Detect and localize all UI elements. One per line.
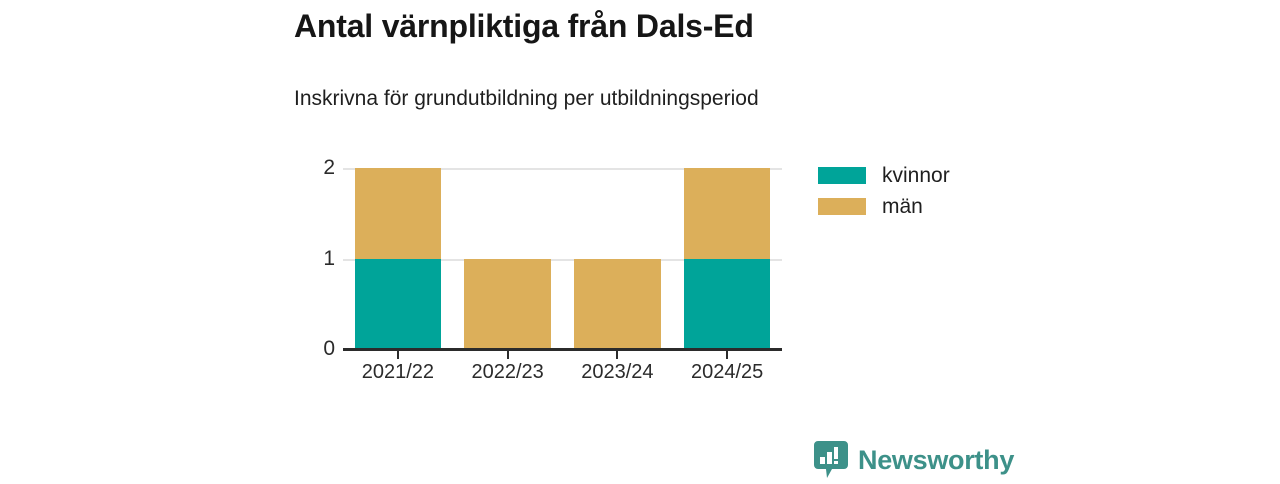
newsworthy-logo[interactable]: Newsworthy	[814, 441, 1014, 479]
legend-item-man[interactable]: män	[818, 191, 950, 222]
y-tick-label-1: 1	[303, 248, 335, 269]
x-axis-line	[343, 348, 782, 351]
x-tick-label: 2022/23	[453, 360, 563, 384]
bar-segment-män[interactable]	[684, 168, 771, 259]
legend-label-man: män	[882, 196, 923, 217]
bar-group[interactable]	[684, 168, 771, 349]
y-tick-label-2: 2	[303, 157, 335, 178]
newsworthy-wordmark: Newsworthy	[858, 445, 1014, 475]
plot-area	[343, 168, 782, 349]
chart-legend: kvinnor män	[818, 160, 950, 222]
y-tick-label-0: 0	[303, 338, 335, 359]
x-tick-label: 2021/22	[343, 360, 453, 384]
legend-swatch-man-icon	[818, 198, 866, 215]
x-tick-mark	[726, 351, 728, 359]
legend-swatch-kvinnor-icon	[818, 167, 866, 184]
newsworthy-bar-chart-bubble-icon	[814, 441, 848, 479]
x-tick-mark	[507, 351, 509, 359]
bar-segment-kvinnor[interactable]	[355, 259, 442, 350]
bar-segment-kvinnor[interactable]	[684, 259, 771, 350]
bar-group[interactable]	[355, 168, 442, 349]
x-tick-mark	[616, 351, 618, 359]
legend-label-kvinnor: kvinnor	[882, 165, 950, 186]
bar-segment-män[interactable]	[464, 259, 551, 350]
x-tick-mark	[397, 351, 399, 359]
bar-group[interactable]	[574, 168, 661, 349]
legend-item-kvinnor[interactable]: kvinnor	[818, 160, 950, 191]
x-tick-label: 2023/24	[563, 360, 673, 384]
page-title: Antal värnpliktiga från Dals-Ed	[294, 4, 1194, 48]
y-axis: 2 1 0	[303, 0, 335, 480]
bar-segment-män[interactable]	[574, 259, 661, 350]
x-tick-label: 2024/25	[672, 360, 782, 384]
bar-group[interactable]	[464, 168, 551, 349]
bar-segment-män[interactable]	[355, 168, 442, 259]
chart-subtitle: Inskrivna för grundutbildning per utbild…	[294, 84, 1194, 114]
